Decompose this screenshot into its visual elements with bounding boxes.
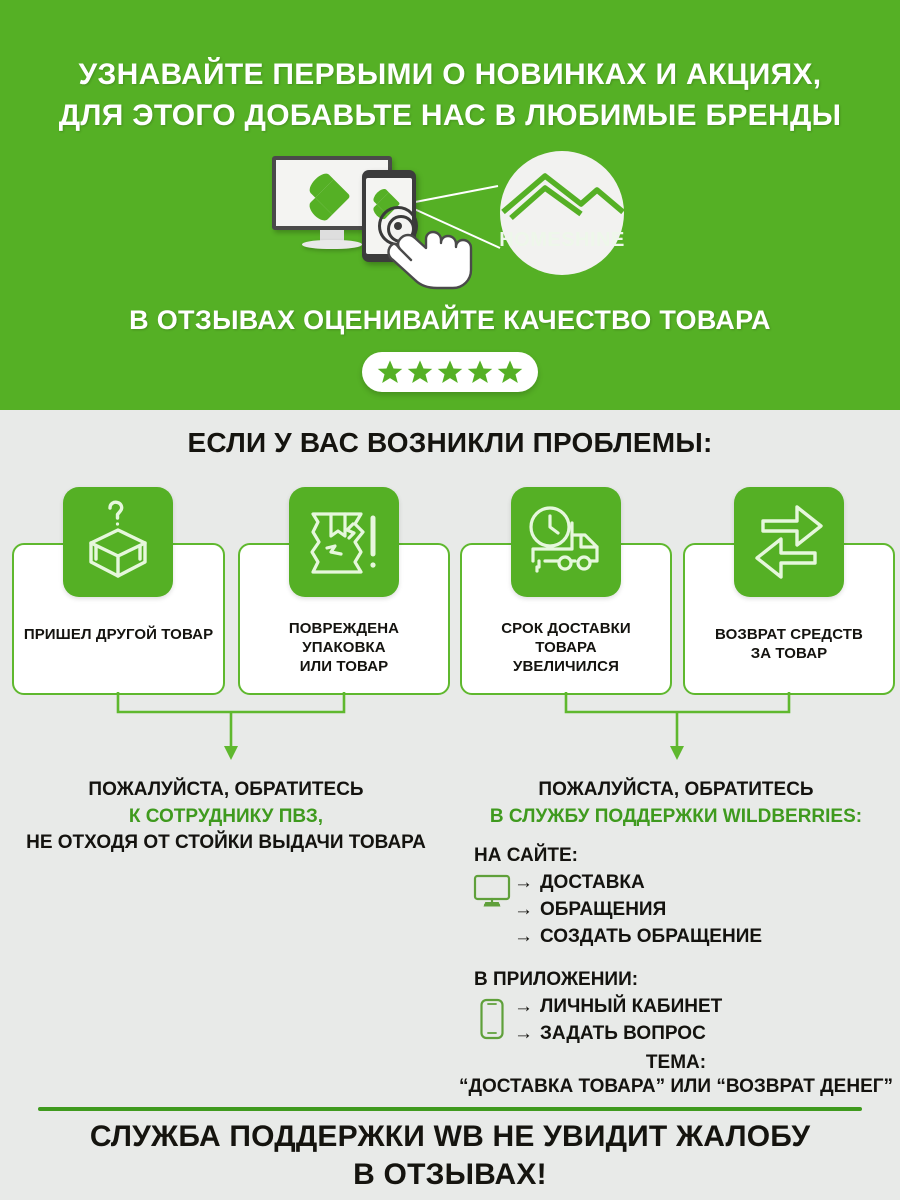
problem-icon-tile-3 [511, 487, 621, 597]
hero-subtitle: В ОТЗЫВАХ ОЦЕНИВАЙТЕ КАЧЕСТВО ТОВАРА [0, 305, 900, 336]
star-icon [496, 358, 524, 386]
footer-warning: СЛУЖБА ПОДДЕРЖКИ WB НЕ УВИДИТ ЖАЛОБУ В О… [0, 1118, 900, 1194]
homeshine-logo: HOMESHINE [489, 150, 635, 276]
advice-pvz-line-1: ПОЖАЛУЙСТА, ОБРАТИТЕСЬ [0, 778, 452, 803]
website-step-item[interactable]: →СОЗДАТЬ ОБРАЩЕНИЕ [514, 924, 762, 951]
pointing-hand-icon [385, 214, 481, 290]
advice-support-line-2: В СЛУЖБУ ПОДДЕРЖКИ WILDBERRIES: [452, 803, 900, 831]
exchange-arrows-icon [749, 501, 829, 583]
open-box-question-icon [79, 500, 157, 584]
app-step-item[interactable]: →ЛИЧНЫЙ КАБИНЕТ [514, 994, 722, 1021]
website-device-icon-wrap [470, 870, 514, 908]
favorite-brand-illustration [0, 148, 900, 283]
arrow-right-icon: → [514, 872, 533, 893]
hero-banner: УЗНАВАЙТЕ ПЕРВЫМИ О НОВИНКАХ И АКЦИЯХ, Д… [0, 0, 900, 410]
problem-icon-tile-2 [289, 487, 399, 597]
app-step-label: ЗАДАТЬ ВОПРОС [540, 1023, 706, 1044]
advice-pvz-line-3: НЕ ОТХОДЯ ОТ СТОЙКИ ВЫДАЧИ ТОВАРА [0, 830, 452, 856]
advice-pvz-block: ПОЖАЛУЙСТА, ОБРАТИТЕСЬ К СОТРУДНИКУ ПВЗ,… [0, 778, 452, 856]
app-device-icon-wrap [470, 994, 514, 1040]
problem-icon-tile-4 [734, 487, 844, 597]
delivery-truck-clock-icon [525, 505, 607, 579]
star-icon [376, 358, 404, 386]
website-step-label: СОЗДАТЬ ОБРАЩЕНИЕ [540, 926, 762, 947]
theme-value: “ДОСТАВКА ТОВАРА” ИЛИ “ВОЗВРАТ ДЕНЕГ” [452, 1076, 900, 1098]
homeshine-logo-text: HOMESHINE [499, 229, 625, 251]
desktop-monitor-icon [473, 874, 511, 908]
app-steps-heading: В ПРИЛОЖЕНИИ: [474, 969, 900, 991]
star-icon [406, 358, 434, 386]
arrow-right-icon: → [514, 996, 533, 1017]
advice-pvz-line-2: К СОТРУДНИКУ ПВЗ, [0, 803, 452, 831]
problem-card-label: ПРИШЕЛ ДРУГОЙ ТОВАР [22, 625, 215, 644]
flow-connectors [0, 690, 900, 780]
app-step-item[interactable]: →ЗАДАТЬ ВОПРОС [514, 1021, 722, 1048]
hero-title: УЗНАВАЙТЕ ПЕРВЫМИ О НОВИНКАХ И АКЦИЯХ, Д… [0, 54, 900, 137]
arrow-right-icon: → [514, 1023, 533, 1044]
star-icon [436, 358, 464, 386]
damaged-package-icon [305, 502, 383, 582]
hero-title-line-1: УЗНАВАЙТЕ ПЕРВЫМИ О НОВИНКАХ И АКЦИЯХ, [79, 58, 822, 91]
problem-icon-tile-1 [63, 487, 173, 597]
footer-divider [38, 1107, 862, 1111]
footer-line-2: В ОТЗЫВАХ! [0, 1156, 900, 1194]
website-steps-group: НА САЙТЕ: →ДОСТАВКА →ОБРАЩЕНИЯ →СОЗДАТЬ … [470, 845, 900, 951]
problem-card-label: ВОЗВРАТ СРЕДСТВ ЗА ТОВАР [693, 625, 885, 663]
star-icon [466, 358, 494, 386]
smartphone-icon [479, 998, 505, 1040]
advice-support-line-1: ПОЖАЛУЙСТА, ОБРАТИТЕСЬ [452, 778, 900, 803]
support-steps: НА САЙТЕ: →ДОСТАВКА →ОБРАЩЕНИЯ →СОЗДАТЬ … [470, 845, 900, 1048]
arrow-right-icon: → [514, 926, 533, 947]
website-step-label: ДОСТАВКА [540, 872, 645, 893]
star-rating-badge [362, 352, 538, 392]
problem-card-label: ПОВРЕЖДЕНА УПАКОВКА ИЛИ ТОВАР [248, 619, 440, 677]
app-steps-group: В ПРИЛОЖЕНИИ: →ЛИЧНЫЙ КАБИНЕТ →ЗАДАТЬ ВО… [470, 969, 900, 1048]
problem-card-label: СРОК ДОСТАВКИ ТОВАРА УВЕЛИЧИЛСЯ [470, 619, 662, 677]
monitor-stand-base [302, 240, 362, 249]
website-step-item[interactable]: →ДОСТАВКА [514, 870, 762, 897]
theme-block: ТЕМА: “ДОСТАВКА ТОВАРА” ИЛИ “ВОЗВРАТ ДЕН… [452, 1052, 900, 1098]
arrow-right-icon: → [514, 899, 533, 920]
footer-line-1: СЛУЖБА ПОДДЕРЖКИ WB НЕ УВИДИТ ЖАЛОБУ [0, 1118, 900, 1156]
problems-section-title: ЕСЛИ У ВАС ВОЗНИКЛИ ПРОБЛЕМЫ: [0, 427, 900, 459]
app-step-label: ЛИЧНЫЙ КАБИНЕТ [540, 996, 722, 1017]
hero-title-line-2: ДЛЯ ЭТОГО ДОБАВЬТЕ НАС В ЛЮБИМЫЕ БРЕНДЫ [0, 95, 900, 136]
website-step-item[interactable]: →ОБРАЩЕНИЯ [514, 897, 762, 924]
advice-support-block: ПОЖАЛУЙСТА, ОБРАТИТЕСЬ В СЛУЖБУ ПОДДЕРЖК… [452, 778, 900, 830]
theme-heading: ТЕМА: [452, 1052, 900, 1074]
website-steps-heading: НА САЙТЕ: [474, 845, 900, 867]
website-step-label: ОБРАЩЕНИЯ [540, 899, 666, 920]
